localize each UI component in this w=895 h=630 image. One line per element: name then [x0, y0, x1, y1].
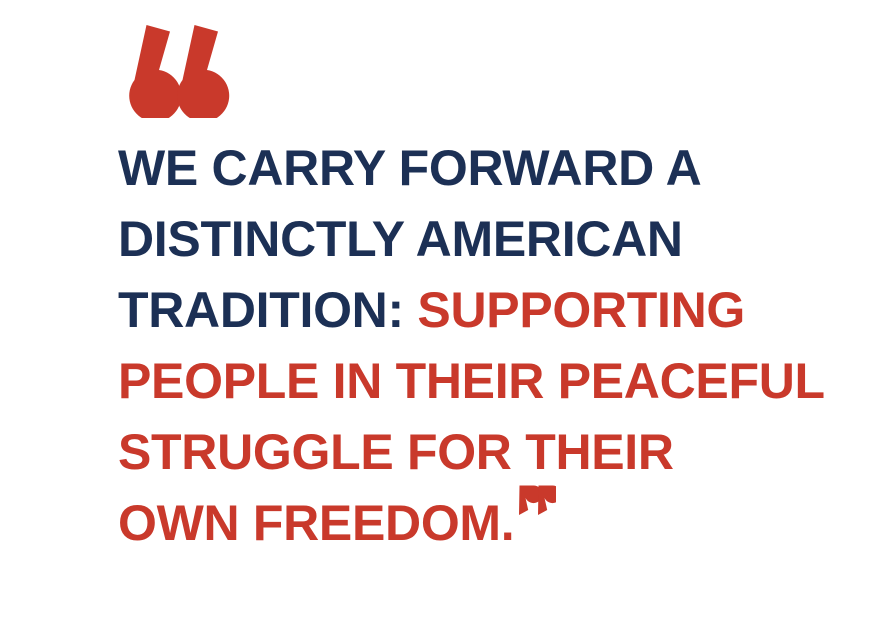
quote-line-4-text: PEOPLE IN THEIR PEACEFUL	[118, 353, 825, 409]
quote-line-6-text: OWN FREEDOM.	[118, 495, 514, 551]
quote-line-3-navy-text: TRADITION:	[118, 282, 404, 338]
quote-line-1: WE CARRY FORWARD A	[118, 133, 878, 204]
closing-quote-icon	[516, 484, 556, 518]
quote-line-2: DISTINCTLY AMERICAN	[118, 204, 878, 275]
quote-line-1-text: WE CARRY FORWARD A	[118, 140, 702, 196]
quote-line-6: OWN FREEDOM.	[118, 488, 878, 559]
opening-quote-icon	[112, 22, 232, 118]
quote-text-block: WE CARRY FORWARD A DISTINCTLY AMERICAN T…	[118, 133, 878, 559]
pullquote-graphic: WE CARRY FORWARD A DISTINCTLY AMERICAN T…	[0, 0, 895, 630]
quote-line-3-red-text: SUPPORTING	[404, 282, 745, 338]
quote-line-5-text: STRUGGLE FOR THEIR	[118, 424, 674, 480]
quote-line-5: STRUGGLE FOR THEIR	[118, 417, 878, 488]
quote-line-4: PEOPLE IN THEIR PEACEFUL	[118, 346, 878, 417]
quote-line-2-text: DISTINCTLY AMERICAN	[118, 211, 683, 267]
quote-line-3: TRADITION: SUPPORTING	[118, 275, 878, 346]
